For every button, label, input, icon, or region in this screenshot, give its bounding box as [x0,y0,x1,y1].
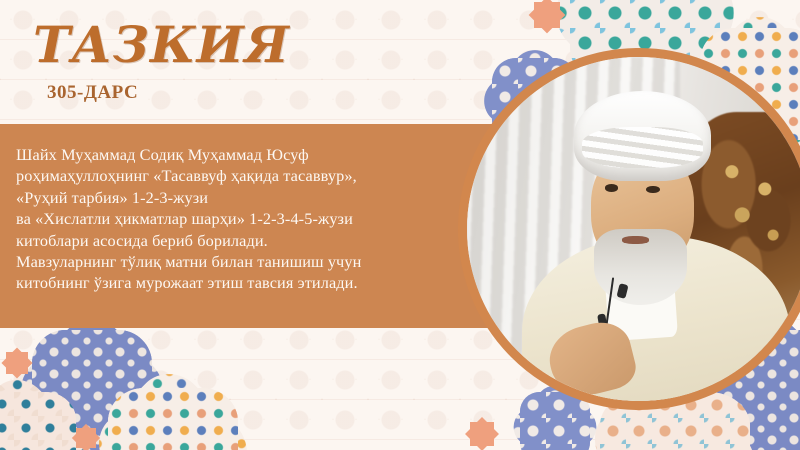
photo-eye-left [605,184,619,192]
ornament-star-peach-bottom [470,422,494,446]
photo-turban [574,91,712,180]
ornament-quatrefoil-peach-bottomleft [0,392,76,450]
ornament-quatrefoil-multicolor-bottomleft [108,388,238,450]
brand-title: ТАЗКИЯ [33,20,290,70]
portrait-photo [467,57,800,401]
description-text: Шайх Муҳаммад Содиқ Муҳаммад Юсуф роҳима… [16,144,456,294]
lesson-number-label: 305-ДАРС [47,82,138,104]
photo-eye-right [646,186,660,194]
portrait-circle-frame [458,48,800,410]
photo-mouth [622,236,650,244]
ornament-star-peach-left-lower [76,428,96,448]
poster-canvas: ТАЗКИЯ 305-ДАРС Шайх Муҳаммад Содиқ Муҳа… [0,0,800,450]
ornament-star-peach-left [6,352,28,374]
